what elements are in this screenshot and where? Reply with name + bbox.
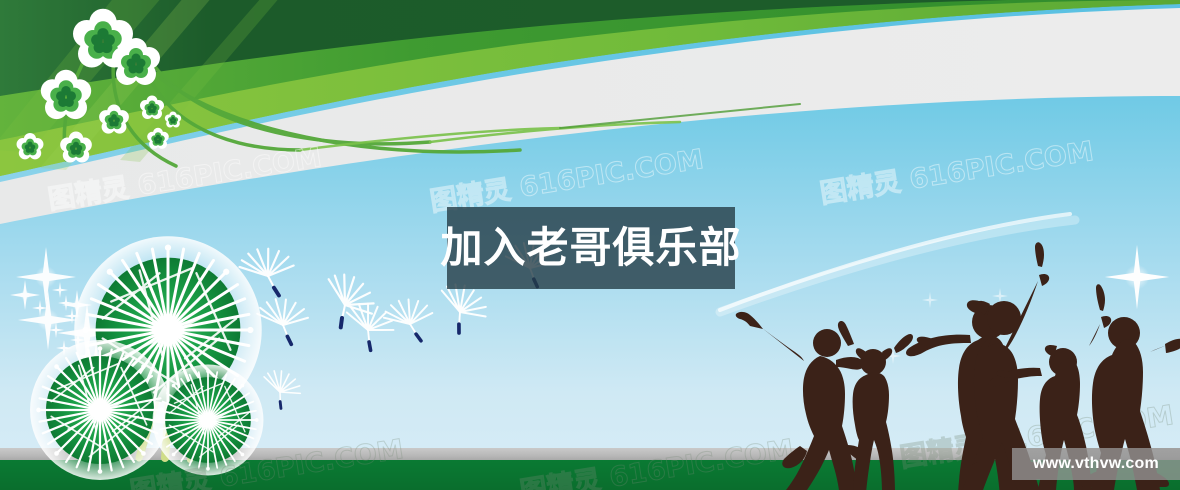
page-title: 加入老哥俱乐部 [441,227,742,269]
website-url-label: www.vthvw.com [1033,455,1159,473]
promotional-banner: 图精灵 616PIC.COM 图精灵 616PIC.COM 图精灵 616PIC… [0,0,1180,490]
website-url-bar[interactable]: www.vthvw.com [1012,448,1180,480]
title-banner: 加入老哥俱乐部 [447,207,735,289]
